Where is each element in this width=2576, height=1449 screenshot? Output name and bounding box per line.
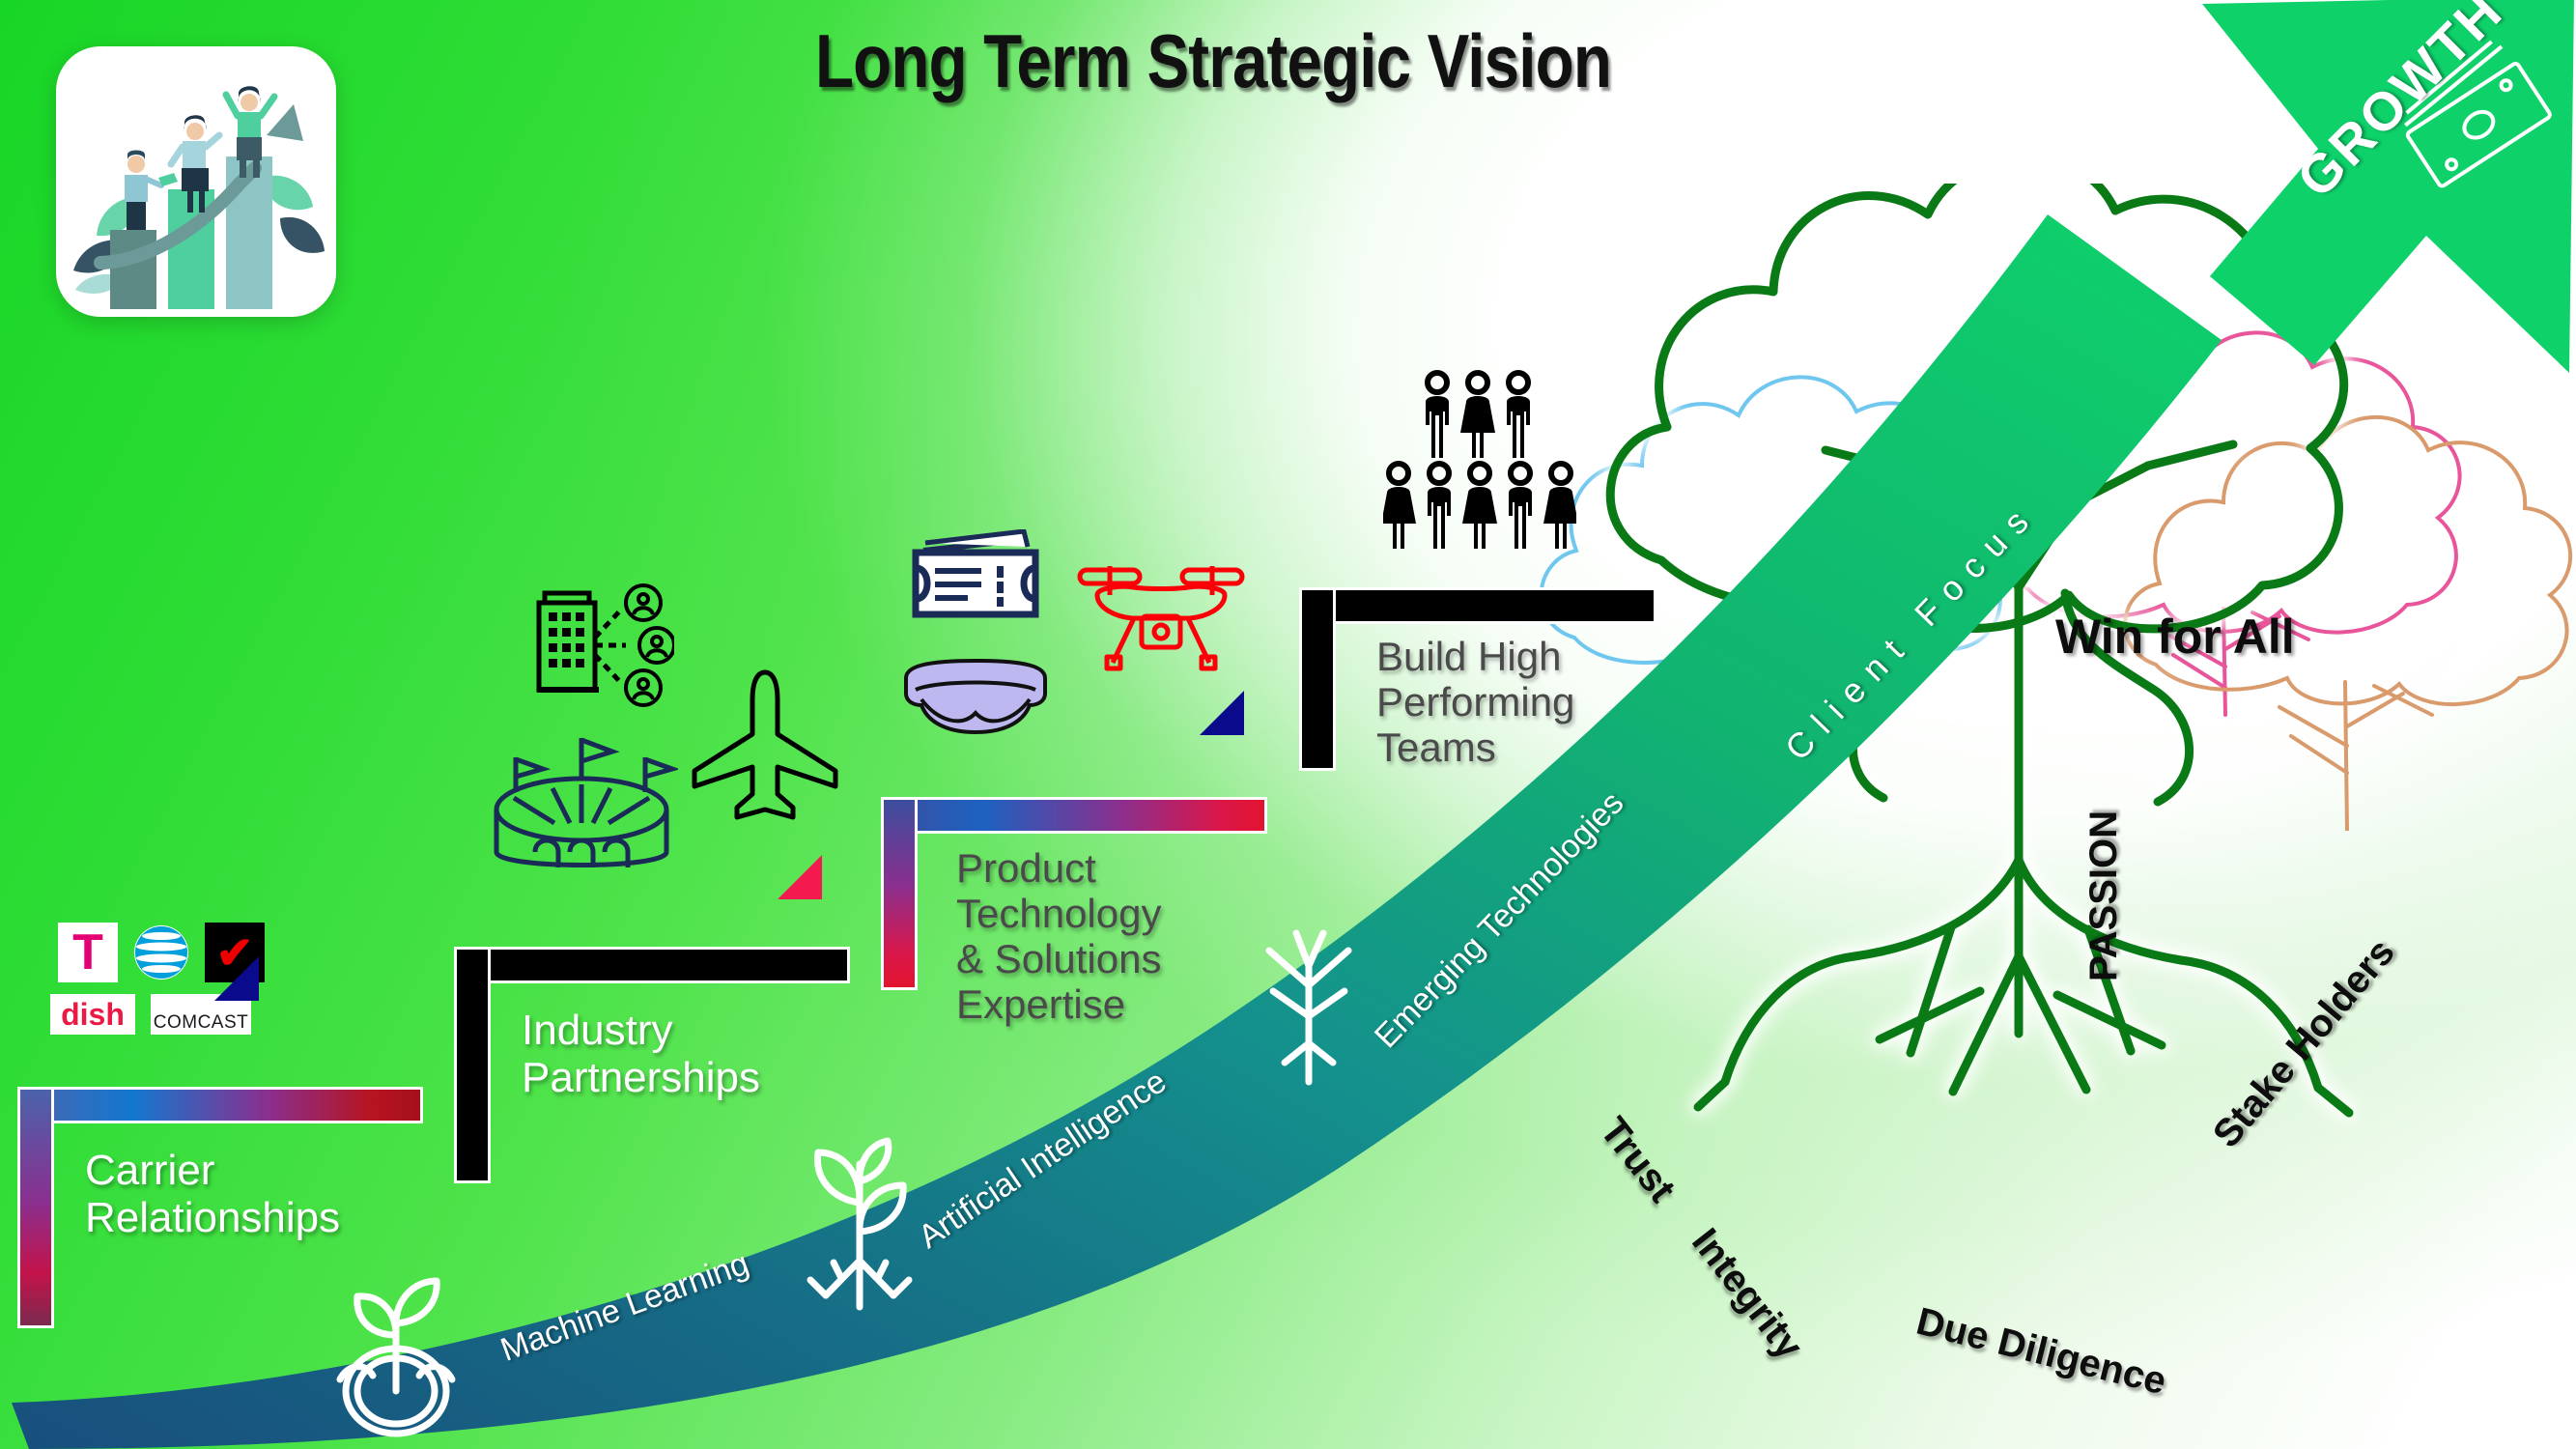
tree-crown-label: Win for All xyxy=(2055,609,2295,665)
carrier-logos-group: T ✔ dish COMCAST xyxy=(50,923,340,1067)
pillar-industry-partnerships[interactable]: Industry Partnerships xyxy=(454,947,850,1183)
page-title: Long Term Strategic Vision xyxy=(815,17,1464,105)
pink-triangle-marker-industry xyxy=(778,855,822,899)
band-label-machine-learning: Machine Learning xyxy=(495,1245,753,1370)
pillar-label-product-technology: Product Technology & Solutions Expertise xyxy=(956,845,1161,1027)
navy-triangle-marker-product xyxy=(1200,691,1244,735)
pillar-build-high-performing-teams[interactable]: Build High Performing Teams xyxy=(1299,587,1656,771)
bracket-left-bar xyxy=(454,947,491,1183)
growth-illustration xyxy=(56,46,336,317)
airplane-icon xyxy=(691,667,840,821)
t-mobile-logo: T xyxy=(58,923,118,982)
comcast-wordmark: COMCAST xyxy=(154,1013,249,1032)
ticket-icon xyxy=(908,529,1043,636)
bracket-top-bar xyxy=(17,1087,423,1123)
bracket-top-bar xyxy=(454,947,850,983)
growth-arrow: GROWTH xyxy=(2086,0,2576,450)
pillar-label-carrier-relationships: Carrier Relationships xyxy=(85,1147,340,1242)
dish-wordmark: dish xyxy=(61,999,125,1030)
bracket-left-bar xyxy=(881,797,918,990)
bracket-left-bar xyxy=(1299,587,1336,771)
tree-trunk-label: PASSION xyxy=(2082,810,2126,981)
band-label-artificial-intelligence: Artificial Intelligence xyxy=(912,1063,1174,1256)
infographic-canvas: Machine Learning Artificial Intelligence… xyxy=(0,0,2576,1449)
t-mobile-glyph: T xyxy=(72,927,103,978)
growth-illustration-card xyxy=(56,46,336,317)
stadium-icon xyxy=(485,734,678,879)
vr-goggles-icon xyxy=(898,657,1053,736)
att-logo xyxy=(131,923,191,982)
navy-triangle-marker-carrier xyxy=(214,956,259,1001)
bracket-left-bar xyxy=(17,1087,54,1328)
office-network-icon xyxy=(529,580,674,715)
bracket-top-bar xyxy=(1299,587,1656,624)
growth-arrow-shape xyxy=(2202,0,2574,373)
drone-icon xyxy=(1074,560,1248,671)
pillar-product-technology[interactable]: Product Technology & Solutions Expertise xyxy=(881,797,1267,990)
pillar-label-industry-partnerships: Industry Partnerships xyxy=(522,1007,760,1102)
dish-logo: dish xyxy=(50,994,135,1035)
bracket-top-bar xyxy=(881,797,1267,834)
people-group-icon xyxy=(1383,369,1576,557)
pillar-carrier-relationships[interactable]: Carrier Relationships xyxy=(17,1087,423,1328)
pillar-label-build-high-performing-teams: Build High Performing Teams xyxy=(1376,634,1574,770)
